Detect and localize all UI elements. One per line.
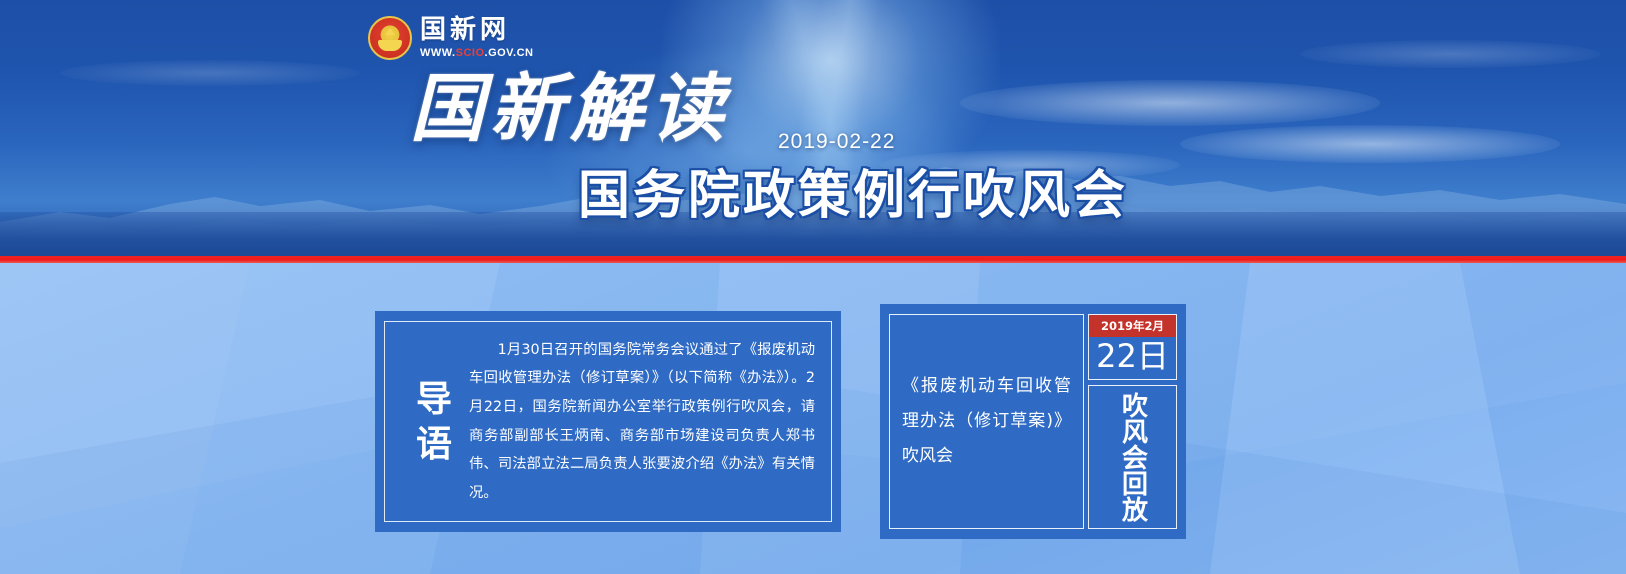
site-logo[interactable]: 国新网 WWW.SCIO.GOV.CN xyxy=(368,12,543,64)
intro-card: 导 语 1月30日召开的国务院常务会议通过了《报废机动车回收管理办法（修订草案）… xyxy=(375,311,841,532)
cloud-decor xyxy=(1180,125,1560,163)
page-title-date: 2019-02-22 xyxy=(778,130,895,154)
cloud-decor xyxy=(1300,40,1600,68)
red-divider xyxy=(0,256,1626,263)
intro-label-char-2: 语 xyxy=(403,422,465,467)
date-badge-month: 2019年2月 xyxy=(1089,315,1176,337)
page-root: 国新网 WWW.SCIO.GOV.CN 国新解读 2019-02-22 国务院政… xyxy=(0,0,1626,574)
replay-button[interactable]: 吹风会回放 xyxy=(1088,385,1177,529)
cloud-decor xyxy=(60,60,360,86)
date-badge: 2019年2月 22日 xyxy=(1088,314,1177,380)
site-name: 国新网 xyxy=(420,17,533,43)
briefing-side-column: 2019年2月 22日 吹风会回放 xyxy=(1088,314,1177,529)
page-title: 国新解读 xyxy=(410,72,730,146)
intro-label-char-1: 导 xyxy=(403,377,465,422)
header-banner: 国新网 WWW.SCIO.GOV.CN 国新解读 2019-02-22 国务院政… xyxy=(0,0,1626,258)
page-subtitle: 国务院政策例行吹风会 xyxy=(578,170,1128,222)
briefing-replay-card[interactable]: 《报废机动车回收管理办法（修订草案)》吹风会 2019年2月 22日 吹风会回放 xyxy=(880,304,1186,539)
replay-button-label: 吹风会回放 xyxy=(1118,392,1146,522)
intro-label: 导 语 xyxy=(403,377,465,467)
url-suffix: .GOV.CN xyxy=(485,47,534,59)
date-badge-day: 22日 xyxy=(1089,337,1176,379)
intro-card-frame: 导 语 1月30日召开的国务院常务会议通过了《报废机动车回收管理办法（修订草案）… xyxy=(384,321,832,522)
intro-body-text: 1月30日召开的国务院常务会议通过了《报废机动车回收管理办法（修订草案）》（以下… xyxy=(465,336,831,508)
national-emblem-icon xyxy=(368,16,412,60)
site-url: WWW.SCIO.GOV.CN xyxy=(420,48,533,59)
briefing-replay-inner: 《报废机动车回收管理办法（修订草案)》吹风会 2019年2月 22日 吹风会回放 xyxy=(889,314,1177,529)
briefing-title-box[interactable]: 《报废机动车回收管理办法（修订草案)》吹风会 xyxy=(889,314,1084,529)
cloud-decor xyxy=(960,80,1380,126)
briefing-title: 《报废机动车回收管理办法（修订草案)》吹风会 xyxy=(902,369,1071,474)
url-highlight: SCIO xyxy=(456,47,485,59)
url-prefix: WWW. xyxy=(420,47,456,59)
